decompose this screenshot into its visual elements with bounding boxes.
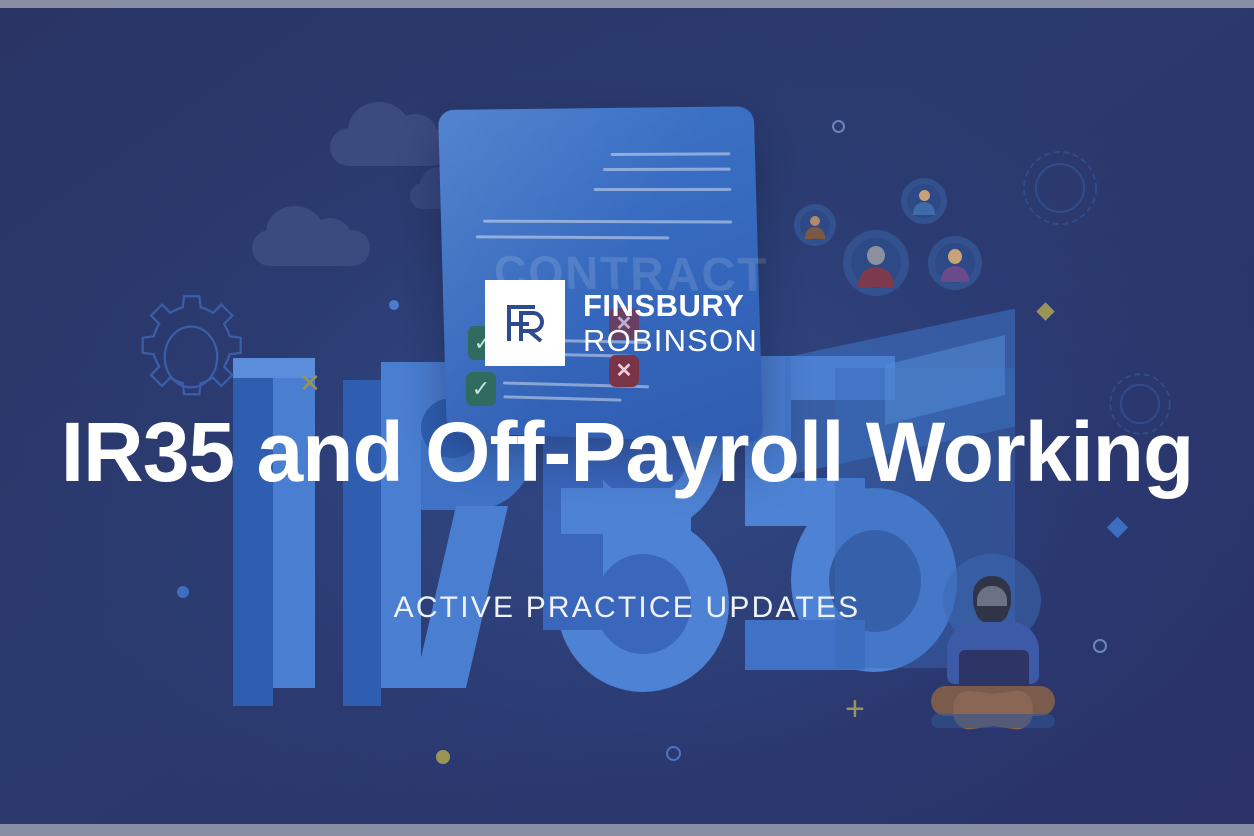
ring-accent xyxy=(666,746,681,761)
bottom-frame-bar xyxy=(0,824,1254,836)
plus-accent-icon: + xyxy=(845,692,865,726)
brand-logo: FINSBURY ROBINSON xyxy=(485,280,758,366)
diamond-accent xyxy=(1036,302,1054,320)
gear-outline-icon xyxy=(1000,128,1120,248)
cloud-shape xyxy=(330,128,450,166)
diamond-accent xyxy=(1107,517,1128,538)
x-accent-icon: ✕ xyxy=(299,370,321,396)
check-icon: ✓ xyxy=(472,378,490,400)
ring-accent xyxy=(832,120,845,133)
gear-avatar xyxy=(928,236,982,290)
logo-mark-icon xyxy=(485,280,565,366)
dot-accent xyxy=(389,300,399,310)
top-frame-bar xyxy=(0,0,1254,8)
gear-avatar xyxy=(901,178,947,224)
gear-avatar xyxy=(843,230,909,296)
logo-line-finsbury: FINSBURY xyxy=(583,290,758,321)
slide-frame: CONTRACT ✓ ✓ ✕ ✕ xyxy=(0,0,1254,836)
slide-subtitle: ACTIVE PRACTICE UPDATES xyxy=(0,591,1254,625)
dot-accent xyxy=(436,750,450,764)
logo-line-robinson: ROBINSON xyxy=(583,325,758,356)
logo-wordmark: FINSBURY ROBINSON xyxy=(583,290,758,356)
presentation-slide: CONTRACT ✓ ✓ ✕ ✕ xyxy=(0,8,1254,824)
cloud-shape xyxy=(252,230,370,266)
person-with-laptop xyxy=(925,558,1060,733)
gear-avatar xyxy=(794,204,836,246)
ring-accent xyxy=(1093,639,1107,653)
slide-title: IR35 and Off-Payroll Working xyxy=(0,408,1254,497)
checkmark-badge: ✓ xyxy=(466,372,496,406)
